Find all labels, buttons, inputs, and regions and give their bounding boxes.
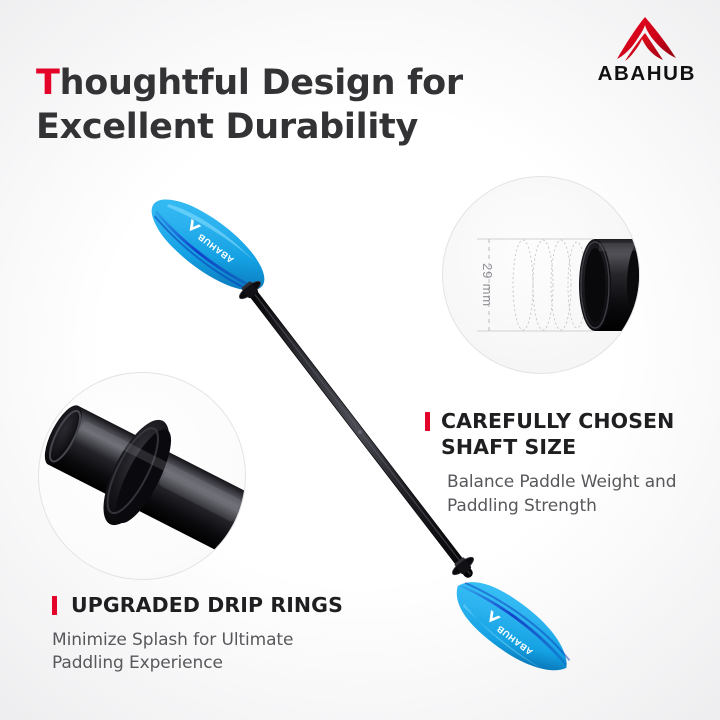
callout-heading-row: UPGRADED DRIP RINGS: [52, 592, 343, 618]
callout-heading-row: CAREFULLY CHOSEN SHAFT SIZE: [425, 408, 676, 460]
paddle-blade-bottom: ABAHUB: [443, 567, 581, 688]
shaft-cross-section-outlines: [513, 240, 586, 330]
callout-subtitle: Minimize Splash for Ultimate Paddling Ex…: [52, 629, 343, 675]
product-feature-graphic: ABAHUB Thoughtful Design forExcellent Du…: [0, 0, 720, 720]
shaft-size-diagram: 29 mm: [443, 177, 640, 374]
callout-subtitle: Balance Paddle Weight and Paddling Stren…: [447, 471, 676, 517]
red-marker-bar-icon: [52, 596, 57, 615]
callout-upgraded-drip-rings: UPGRADED DRIP RINGS Minimize Splash for …: [52, 592, 343, 675]
measurement-label: 29 mm: [480, 263, 495, 307]
drip-ring-inset: [38, 372, 246, 580]
red-marker-bar-icon: [425, 412, 430, 431]
drip-ring-photo: [39, 373, 246, 580]
shaft-size-inset: 29 mm: [442, 176, 640, 374]
callout-title: UPGRADED DRIP RINGS: [71, 592, 343, 618]
callout-title: CAREFULLY CHOSEN SHAFT SIZE: [441, 408, 674, 460]
callout-carefully-chosen-shaft-size: CAREFULLY CHOSEN SHAFT SIZE Balance Padd…: [425, 408, 676, 518]
